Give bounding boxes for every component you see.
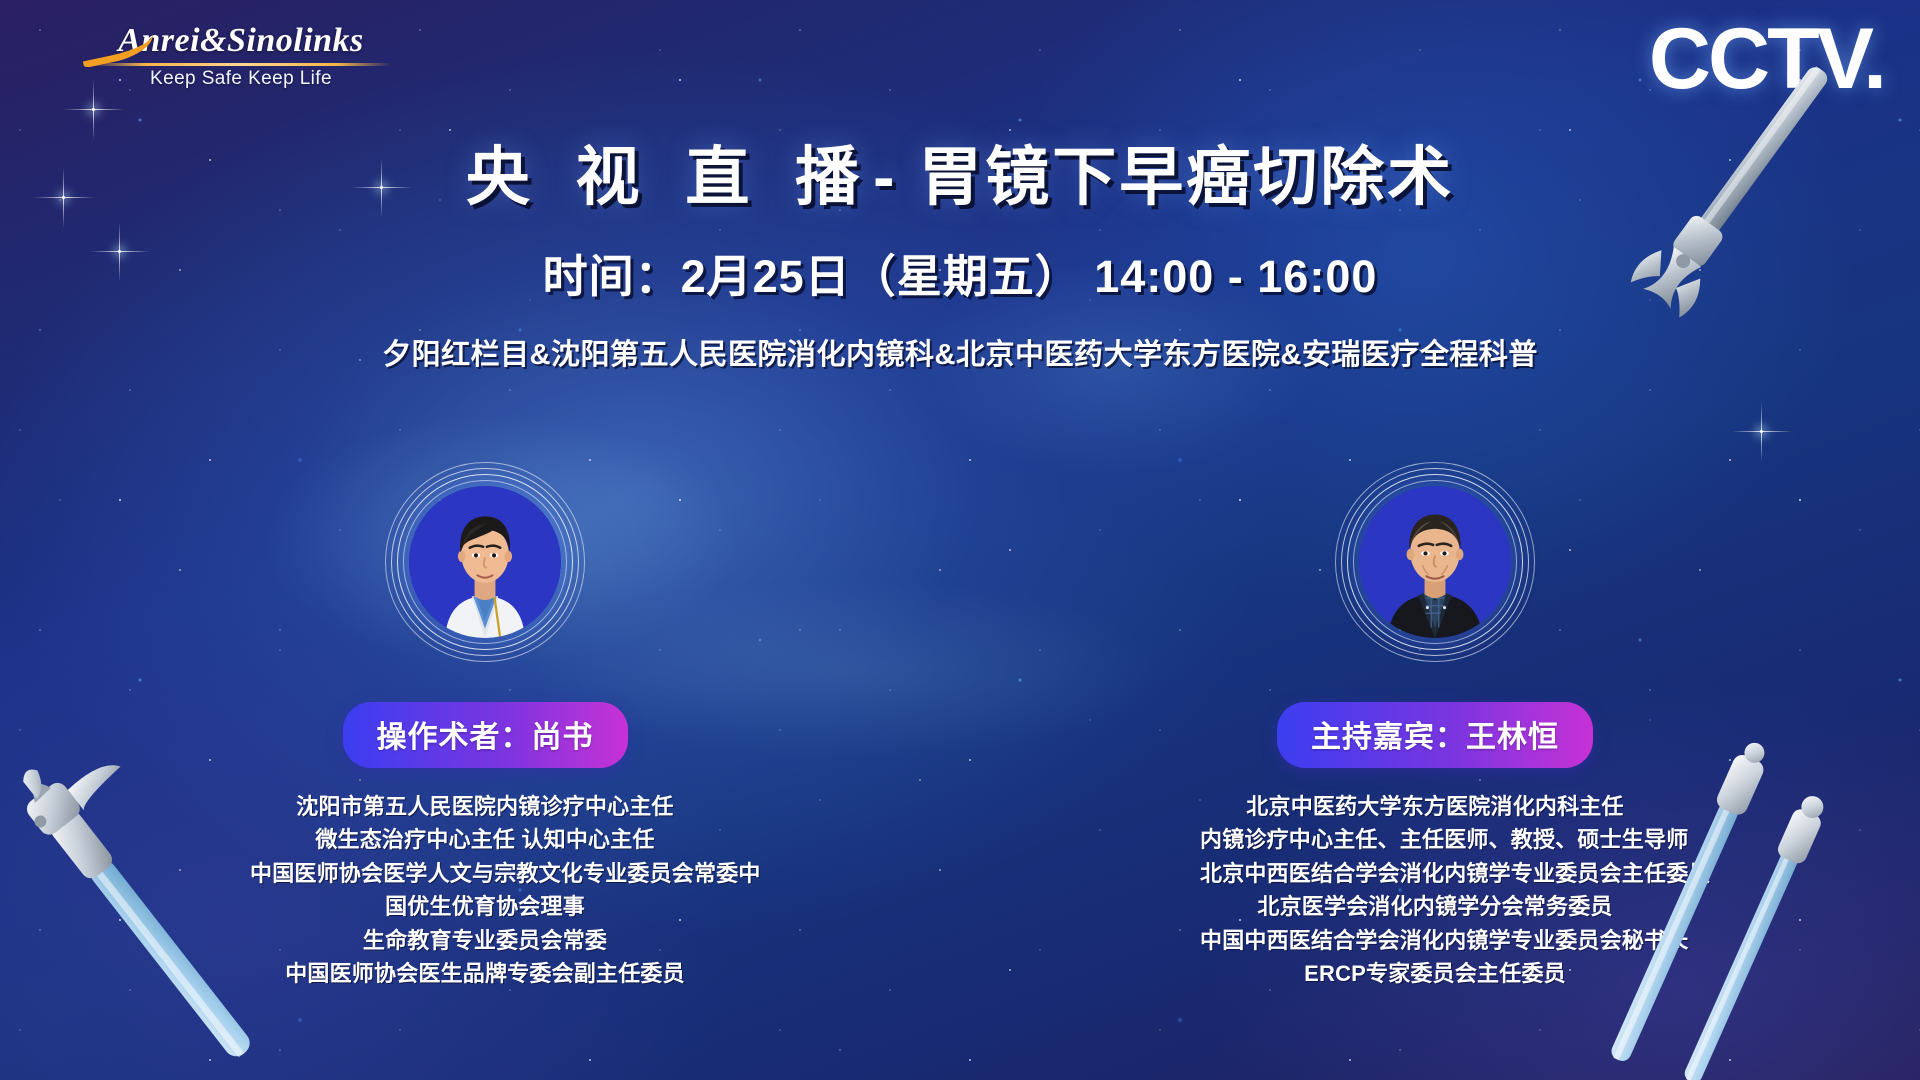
avatar-photo-host [1359,486,1511,638]
speaker-bio-operator: 沈阳市第五人民医院内镜诊疗中心主任 微生态治疗中心主任 认知中心主任 中国医师协… [250,790,720,991]
speaker-name-badge-host: 主持嘉宾：王林恒 [1277,702,1593,768]
swoosh-icon [77,21,156,69]
speaker-bio-host: 北京中医药大学东方医院消化内科主任 内镜诊疗中心主任、主任医师、教授、硕士生导师… [1200,790,1670,991]
page-title: 央 视 直 播- 胃镜下早癌切除术 [0,126,1920,218]
brand-name: Anrei&Sinolinks [86,22,396,60]
avatar-photo-operator [409,486,561,638]
bio-line: 国优生优育协会理事 [250,890,720,923]
bio-line: 北京中西医结合学会消化内镜学专业委员会主任委员 [1200,857,1670,890]
brand-divider [91,63,391,66]
page-title-rest: - 胃镜下早癌切除术 [873,141,1454,213]
bio-line: 中国医师协会医生品牌专委会副主任委员 [250,957,720,990]
cctv-logo: CCTV. [1649,16,1884,102]
speakers-row: 操作术者：尚书 沈阳市第五人民医院内镜诊疗中心主任 微生态治疗中心主任 认知中心… [0,462,1920,991]
headline-block: 央 视 直 播- 胃镜下早癌切除术 时间：2月25日（星期五） 14:00 - … [0,126,1920,373]
bio-line: 生命教育专业委员会常委 [250,924,720,957]
bio-line: 北京医学会消化内镜学分会常务委员 [1200,890,1670,923]
bio-line: 沈阳市第五人民医院内镜诊疗中心主任 [250,790,720,823]
speaker-card-host: 主持嘉宾：王林恒 北京中医药大学东方医院消化内科主任 内镜诊疗中心主任、主任医师… [1200,462,1670,991]
speaker-name-badge-operator: 操作术者：尚书 [343,702,628,768]
bio-line: 北京中医药大学东方医院消化内科主任 [1200,790,1670,823]
sparkle-star [1760,430,1763,433]
avatar [385,462,585,662]
bio-line: 中国中西医结合学会消化内镜学专业委员会秘书长 [1200,924,1670,957]
brand-tagline: Keep Safe Keep Life [86,68,396,90]
avatar [1335,462,1535,662]
page-title-lead: 央 视 直 播 [466,141,873,213]
bio-line: 微生态治疗中心主任 认知中心主任 [250,823,720,856]
brand-logo: Anrei&Sinolinks Keep Safe Keep Life [86,22,396,90]
speaker-card-operator: 操作术者：尚书 沈阳市第五人民医院内镜诊疗中心主任 微生态治疗中心主任 认知中心… [250,462,720,991]
brand-name-text: Anrei&Sinolinks [118,22,364,59]
event-organizers: 夕阳红栏目&沈阳第五人民医院消化内镜科&北京中医药大学东方医院&安瑞医疗全程科普 [0,331,1920,373]
bio-line: 内镜诊疗中心主任、主任医师、教授、硕士生导师 [1200,823,1670,856]
poster-canvas: Anrei&Sinolinks Keep Safe Keep Life CCTV… [0,0,1920,1080]
sparkle-star [92,108,95,111]
bio-line: ERCP专家委员会主任委员 [1200,957,1670,990]
event-datetime: 时间：2月25日（星期五） 14:00 - 16:00 [0,240,1920,305]
bio-line: 中国医师协会医学人文与宗教文化专业委员会常委中 [250,857,720,890]
